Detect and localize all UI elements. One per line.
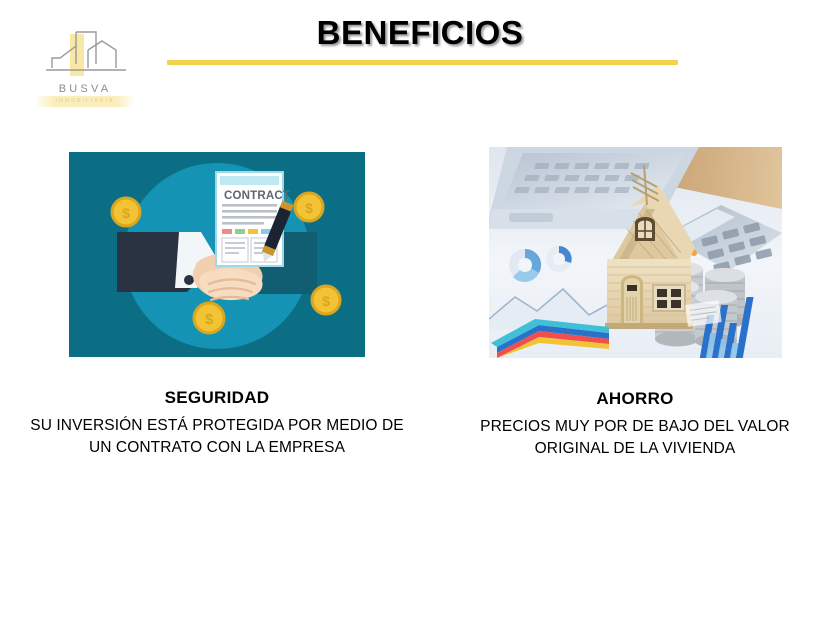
svg-text:CONTRACT: CONTRACT (224, 190, 290, 202)
house-model-coins-calculator-photo (489, 147, 782, 358)
coin-icon-3: $ (312, 286, 340, 314)
house-door (621, 276, 643, 326)
busva-logo-tagline: INMOBILIARIA (35, 96, 135, 107)
coin-icon-2: $ (295, 193, 323, 221)
title-underline-rule (167, 60, 678, 65)
busva-logo-wordmark: BUSVA (30, 83, 140, 95)
benefit-column-seguridad: CONTRACT (22, 140, 412, 459)
front-window (653, 285, 685, 311)
benefit-description-ahorro: PRECIOS MUY POR DE BAJO DEL VALOR ORIGIN… (440, 416, 830, 460)
handshake-contract-image: CONTRACT (69, 152, 365, 357)
benefit-heading-ahorro: AHORRO (440, 389, 830, 409)
benefit-description-seguridad: SU INVERSIÓN ESTÁ PROTEGIDA POR MEDIO DE… (22, 415, 412, 459)
svg-text:$: $ (122, 205, 130, 221)
house-savings-photo (489, 147, 782, 358)
paper-notes (685, 300, 722, 327)
benefit-heading-seguridad: SEGURIDAD (22, 388, 412, 408)
slide-title: BENEFICIOS (0, 14, 840, 52)
svg-text:$: $ (322, 293, 330, 309)
benefit-column-ahorro: AHORRO PRECIOS MUY POR DE BAJO DEL VALOR… (440, 140, 830, 460)
svg-text:$: $ (205, 311, 214, 328)
coin-icon-1: $ (112, 198, 140, 226)
svg-text:$: $ (305, 200, 313, 216)
attic-window (635, 217, 655, 241)
coin-icon-4: $ (194, 303, 224, 333)
handshake-contract-illustration: CONTRACT (69, 152, 365, 357)
